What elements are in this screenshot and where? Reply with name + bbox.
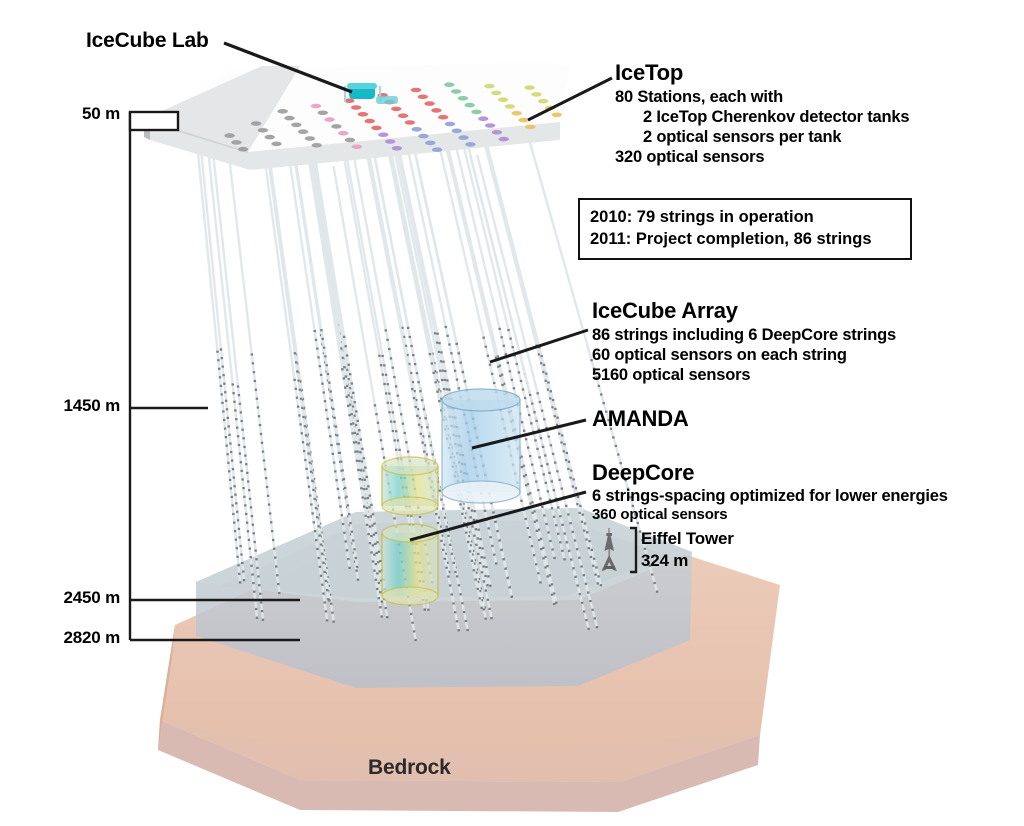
- optical-sensor-dot: [435, 513, 437, 515]
- optical-sensor-dot: [448, 343, 450, 345]
- optical-sensor-dot: [257, 406, 259, 408]
- optical-sensor-dot: [249, 498, 251, 500]
- optical-sensor-dot: [541, 410, 543, 412]
- optical-sensor-dot: [241, 429, 243, 431]
- optical-sensor-dot: [416, 415, 418, 417]
- optical-sensor-dot: [388, 393, 390, 395]
- optical-sensor-dot: [385, 392, 387, 394]
- optical-sensor-dot: [252, 524, 254, 526]
- optical-sensor-dot: [341, 469, 343, 471]
- optical-sensor-dot: [456, 620, 458, 622]
- optical-sensor-dot: [272, 539, 274, 541]
- icetop-station-marker: [478, 116, 488, 121]
- optical-sensor-dot: [427, 609, 429, 611]
- optical-sensor-dot: [231, 460, 233, 462]
- optical-sensor-dot: [321, 383, 323, 385]
- optical-sensor-dot: [307, 477, 309, 479]
- optical-sensor-dot: [314, 530, 316, 532]
- optical-sensor-dot: [471, 510, 473, 512]
- optical-sensor-dot: [239, 581, 241, 583]
- optical-sensor-dot: [235, 539, 237, 541]
- optical-sensor-dot: [572, 531, 574, 533]
- optical-sensor-dot: [376, 541, 378, 543]
- icetop-station-marker: [538, 99, 548, 104]
- optical-sensor-dot: [557, 506, 559, 508]
- optical-sensor-dot: [439, 370, 441, 372]
- optical-sensor-dot: [339, 452, 341, 454]
- optical-sensor-dot: [458, 387, 460, 389]
- optical-sensor-dot: [416, 372, 418, 374]
- optical-sensor-dot: [542, 446, 544, 448]
- optical-sensor-dot: [339, 505, 341, 507]
- optical-sensor-dot: [326, 418, 328, 420]
- optical-sensor-dot: [364, 479, 366, 481]
- optical-sensor-dot: [543, 364, 545, 366]
- optical-sensor-dot: [473, 569, 475, 571]
- optical-sensor-dot: [244, 504, 246, 506]
- optical-sensor-dot: [260, 601, 262, 603]
- icetop-station-marker: [425, 141, 435, 146]
- optical-sensor-dot: [270, 521, 272, 523]
- optical-sensor-dot: [484, 510, 486, 512]
- optical-sensor-dot: [233, 522, 235, 524]
- icecube-array-line-2: 60 optical sensors on each string: [592, 346, 847, 365]
- optical-sensor-dot: [268, 504, 270, 506]
- optical-sensor-dot: [561, 550, 563, 552]
- optical-sensor-dot: [247, 480, 249, 482]
- optical-sensor-dot: [351, 531, 353, 533]
- optical-sensor-dot: [538, 456, 540, 458]
- optical-sensor-dot: [327, 598, 329, 600]
- optical-sensor-dot: [361, 460, 363, 462]
- optical-sensor-dot: [487, 599, 489, 601]
- optical-sensor-dot: [293, 379, 295, 381]
- optical-sensor-dot: [374, 543, 376, 545]
- optical-sensor-dot: [227, 462, 229, 464]
- optical-sensor-dot: [592, 565, 594, 567]
- optical-sensor-dot: [258, 584, 260, 586]
- optical-sensor-dot: [334, 470, 336, 472]
- optical-sensor-dot: [584, 522, 586, 524]
- optical-sensor-dot: [369, 542, 371, 544]
- icetop-station-marker: [385, 139, 395, 144]
- optical-sensor-dot: [320, 575, 322, 577]
- optical-sensor-dot: [379, 591, 381, 593]
- optical-sensor-dot: [489, 536, 491, 538]
- optical-sensor-dot: [216, 351, 218, 353]
- optical-sensor-dot: [342, 523, 344, 525]
- optical-sensor-dot: [568, 550, 570, 552]
- optical-sensor-dot: [443, 388, 445, 390]
- optical-sensor-dot: [543, 418, 545, 420]
- optical-sensor-dot: [433, 372, 435, 374]
- optical-sensor-dot: [370, 551, 372, 553]
- optical-sensor-dot: [253, 371, 255, 373]
- optical-sensor-dot: [309, 462, 311, 464]
- icetop-station-marker: [345, 138, 355, 143]
- optical-sensor-dot: [485, 566, 487, 568]
- optical-sensor-dot: [316, 348, 318, 350]
- optical-sensor-dot: [568, 461, 570, 463]
- optical-sensor-dot: [243, 579, 245, 581]
- optical-sensor-dot: [304, 425, 306, 427]
- icetop-heading: IceTop: [615, 60, 683, 86]
- optical-sensor-dot: [330, 390, 332, 392]
- optical-sensor-dot: [237, 435, 239, 437]
- optical-sensor-dot: [354, 432, 356, 434]
- icetop-station-marker: [452, 129, 462, 134]
- optical-sensor-dot: [229, 442, 231, 444]
- optical-sensor-dot: [545, 380, 547, 382]
- optical-sensor-dot: [233, 485, 235, 487]
- optical-sensor-dot: [587, 628, 589, 630]
- optical-sensor-dot: [415, 406, 417, 408]
- optical-sensor-dot: [387, 383, 389, 385]
- optical-sensor-dot: [531, 403, 533, 405]
- optical-sensor-dot: [297, 380, 299, 382]
- icetop-station-marker: [465, 103, 475, 108]
- icetop-station-marker: [438, 115, 448, 120]
- optical-sensor-dot: [217, 359, 219, 361]
- deepcore-line-2: 360 optical sensors: [592, 506, 727, 523]
- optical-sensor-dot: [319, 365, 321, 367]
- optical-sensor-dot: [430, 444, 432, 446]
- optical-sensor-dot: [238, 528, 240, 530]
- icetop-station-marker: [531, 92, 541, 97]
- optical-sensor-dot: [438, 351, 440, 353]
- optical-sensor-dot: [566, 452, 568, 454]
- optical-sensor-dot: [340, 347, 342, 349]
- optical-sensor-dot: [250, 506, 252, 508]
- optical-sensor-dot: [355, 557, 357, 559]
- optical-sensor-dot: [376, 552, 378, 554]
- eiffel-name: Eiffel Tower: [641, 528, 734, 549]
- optical-sensor-dot: [322, 562, 324, 564]
- icetop-station-marker: [358, 112, 368, 117]
- optical-sensor-dot: [378, 597, 380, 599]
- optical-sensor-dot: [501, 336, 503, 338]
- optical-sensor-dot: [499, 375, 501, 377]
- optical-sensor-dot: [387, 402, 389, 404]
- optical-sensor-dot: [481, 547, 483, 549]
- optical-sensor-dot: [235, 418, 237, 420]
- optical-sensor-dot: [348, 513, 350, 515]
- optical-sensor-dot: [428, 435, 430, 437]
- optical-sensor-dot: [578, 557, 580, 559]
- optical-sensor-dot: [218, 368, 220, 370]
- optical-sensor-dot: [570, 558, 572, 560]
- optical-sensor-dot: [453, 562, 455, 564]
- optical-sensor-dot: [531, 464, 533, 466]
- optical-sensor-dot: [310, 503, 312, 505]
- depth-label-50: 50 m: [0, 104, 120, 124]
- optical-sensor-dot: [221, 393, 223, 395]
- optical-sensor-dot: [446, 379, 448, 381]
- optical-sensor-dot: [419, 390, 421, 392]
- optical-sensor-dot: [345, 345, 347, 347]
- optical-sensor-dot: [395, 430, 397, 432]
- optical-sensor-dot: [319, 534, 321, 536]
- optical-sensor-dot: [344, 387, 346, 389]
- optical-sensor-dot: [485, 590, 487, 592]
- optical-sensor-dot: [315, 539, 317, 541]
- optical-sensor-dot: [540, 437, 542, 439]
- optical-sensor-dot: [437, 522, 439, 524]
- optical-sensor-dot: [326, 589, 328, 591]
- optical-sensor-dot: [445, 567, 447, 569]
- optical-sensor-dot: [615, 445, 617, 447]
- icetop-station-marker: [278, 109, 288, 114]
- optical-sensor-dot: [553, 603, 555, 605]
- optical-sensor-dot: [357, 451, 359, 453]
- optical-sensor-dot: [348, 414, 350, 416]
- optical-sensor-dot: [471, 560, 473, 562]
- optical-sensor-dot: [237, 519, 239, 521]
- optical-sensor-dot: [264, 468, 266, 470]
- optical-sensor-dot: [301, 432, 303, 434]
- optical-sensor-dot: [397, 395, 399, 397]
- optical-sensor-dot: [559, 515, 561, 517]
- optical-sensor-dot: [320, 544, 322, 546]
- optical-sensor-dot: [330, 603, 332, 605]
- optical-sensor-dot: [367, 485, 369, 487]
- optical-sensor-dot: [238, 394, 240, 396]
- optical-sensor-dot: [322, 338, 324, 340]
- optical-sensor-dot: [302, 441, 304, 443]
- optical-sensor-dot: [371, 525, 373, 527]
- optical-sensor-dot: [242, 571, 244, 573]
- optical-sensor-dot: [600, 584, 602, 586]
- optical-sensor-dot: [232, 392, 234, 394]
- optical-sensor-dot: [494, 521, 496, 523]
- optical-sensor-dot: [456, 379, 458, 381]
- optical-sensor-dot: [488, 608, 490, 610]
- optical-sensor-dot: [450, 352, 452, 354]
- optical-sensor-dot: [440, 540, 442, 542]
- optical-sensor-dot: [587, 591, 589, 593]
- optical-sensor-dot: [378, 355, 380, 357]
- detector-string: [208, 147, 257, 618]
- icetop-station-marker: [318, 111, 328, 116]
- optical-sensor-dot: [243, 496, 245, 498]
- optical-sensor-dot: [444, 379, 446, 381]
- optical-sensor-dot: [400, 413, 402, 415]
- icecube-array-heading: IceCube Array: [592, 298, 738, 324]
- optical-sensor-dot: [444, 517, 446, 519]
- optical-sensor-dot: [349, 522, 351, 524]
- optical-sensor-dot: [617, 453, 619, 455]
- optical-sensor-dot: [296, 397, 298, 399]
- optical-sensor-dot: [409, 336, 411, 338]
- optical-sensor-dot: [370, 535, 372, 537]
- optical-sensor-dot: [303, 450, 305, 452]
- optical-sensor-dot: [551, 406, 553, 408]
- optical-sensor-dot: [522, 388, 524, 390]
- optical-sensor-dot: [361, 448, 363, 450]
- optical-sensor-dot: [448, 389, 450, 391]
- icetop-station-marker: [224, 133, 234, 138]
- optical-sensor-dot: [560, 441, 562, 443]
- optical-sensor-dot: [241, 470, 243, 472]
- optical-sensor-dot: [259, 424, 261, 426]
- icetop-station-marker: [312, 143, 322, 148]
- optical-sensor-dot: [221, 402, 223, 404]
- optical-sensor-dot: [480, 607, 482, 609]
- optical-sensor-dot: [447, 576, 449, 578]
- optical-sensor-dot: [316, 516, 318, 518]
- icetop-station-marker: [371, 126, 381, 131]
- optical-sensor-dot: [263, 459, 265, 461]
- optical-sensor-dot: [485, 346, 487, 348]
- optical-sensor-dot: [545, 373, 547, 375]
- optical-sensor-dot: [278, 592, 280, 594]
- optical-sensor-dot: [343, 478, 345, 480]
- optical-sensor-dot: [315, 339, 317, 341]
- optical-sensor-dot: [533, 472, 535, 474]
- optical-sensor-dot: [421, 442, 423, 444]
- optical-sensor-dot: [273, 548, 275, 550]
- optical-sensor-dot: [574, 539, 576, 541]
- optical-sensor-dot: [251, 573, 253, 575]
- optical-sensor-dot: [434, 332, 436, 334]
- optical-sensor-dot: [483, 608, 485, 610]
- optical-sensor-dot: [411, 388, 413, 390]
- optical-sensor-dot: [380, 364, 382, 366]
- optical-sensor-dot: [407, 327, 409, 329]
- optical-sensor-dot: [254, 550, 256, 552]
- optical-sensor-dot: [355, 410, 357, 412]
- optical-sensor-dot: [438, 342, 440, 344]
- optical-sensor-dot: [458, 584, 460, 586]
- optical-sensor-dot: [326, 619, 328, 621]
- optical-sensor-dot: [392, 430, 394, 432]
- optical-sensor-dot: [512, 346, 514, 348]
- optical-sensor-dot: [219, 376, 221, 378]
- optical-sensor-dot: [481, 556, 483, 558]
- optical-sensor-dot: [439, 490, 441, 492]
- optical-sensor-dot: [383, 457, 385, 459]
- optical-sensor-dot: [313, 521, 315, 523]
- optical-sensor-dot: [255, 558, 257, 560]
- optical-sensor-dot: [261, 610, 263, 612]
- optical-sensor-dot: [357, 579, 359, 581]
- optical-sensor-dot: [583, 574, 585, 576]
- optical-sensor-dot: [295, 361, 297, 363]
- optical-sensor-dot: [265, 477, 267, 479]
- optical-sensor-dot: [477, 529, 479, 531]
- optical-sensor-dot: [527, 447, 529, 449]
- optical-sensor-dot: [366, 476, 368, 478]
- optical-sensor-dot: [509, 586, 511, 588]
- optical-sensor-dot: [314, 330, 316, 332]
- optical-sensor-dot: [547, 381, 549, 383]
- optical-sensor-dot: [386, 616, 388, 618]
- optical-sensor-dot: [556, 417, 558, 419]
- optical-sensor-dot: [531, 545, 533, 547]
- optical-sensor-dot: [429, 353, 431, 355]
- optical-sensor-dot: [525, 438, 527, 440]
- optical-sensor-dot: [347, 558, 349, 560]
- optical-sensor-dot: [320, 329, 322, 331]
- optical-sensor-dot: [362, 496, 364, 498]
- optical-sensor-dot: [226, 453, 228, 455]
- optical-sensor-dot: [373, 554, 375, 556]
- optical-sensor-dot: [363, 457, 365, 459]
- optical-sensor-dot: [561, 488, 563, 490]
- optical-sensor-dot: [471, 525, 473, 527]
- optical-sensor-dot: [554, 408, 556, 410]
- optical-sensor-dot: [298, 414, 300, 416]
- optical-sensor-dot: [254, 380, 256, 382]
- optical-sensor-dot: [596, 626, 598, 628]
- optical-sensor-dot: [358, 442, 360, 444]
- optical-sensor-dot: [390, 402, 392, 404]
- icetop-station-marker: [485, 123, 495, 128]
- optical-sensor-dot: [379, 560, 381, 562]
- optical-sensor-dot: [299, 389, 301, 391]
- optical-sensor-dot: [585, 583, 587, 585]
- optical-sensor-dot: [305, 434, 307, 436]
- optical-sensor-dot: [582, 514, 584, 516]
- optical-sensor-dot: [240, 411, 242, 413]
- optical-sensor-dot: [656, 591, 658, 593]
- optical-sensor-dot: [484, 575, 486, 577]
- optical-sensor-dot: [367, 533, 369, 535]
- optical-sensor-dot: [348, 567, 350, 569]
- optical-sensor-dot: [248, 539, 250, 541]
- optical-sensor-dot: [232, 513, 234, 515]
- optical-sensor-dot: [295, 388, 297, 390]
- optical-sensor-dot: [559, 541, 561, 543]
- optical-sensor-dot: [348, 378, 350, 380]
- optical-sensor-dot: [537, 489, 539, 491]
- optical-sensor-dot: [489, 585, 491, 587]
- optical-sensor-dot: [355, 570, 357, 572]
- optical-sensor-dot: [320, 374, 322, 376]
- optical-sensor-dot: [359, 451, 361, 453]
- icetop-station-marker: [378, 132, 388, 137]
- optical-sensor-dot: [550, 390, 552, 392]
- optical-sensor-dot: [250, 565, 252, 567]
- optical-sensor-dot: [365, 515, 367, 517]
- optical-sensor-dot: [332, 621, 334, 623]
- optical-sensor-dot: [449, 544, 451, 546]
- optical-sensor-dot: [390, 357, 392, 359]
- optical-sensor-dot: [308, 486, 310, 488]
- optical-sensor-dot: [373, 570, 375, 572]
- optical-sensor-dot: [565, 505, 567, 507]
- optical-sensor-dot: [521, 466, 523, 468]
- optical-sensor-dot: [541, 355, 543, 357]
- optical-sensor-dot: [319, 566, 321, 568]
- optical-sensor-dot: [558, 433, 560, 435]
- icetop-station-marker: [251, 121, 261, 126]
- optical-sensor-dot: [594, 617, 596, 619]
- optical-sensor-dot: [382, 374, 384, 376]
- icetop-station-marker: [291, 123, 301, 128]
- optical-sensor-dot: [395, 385, 397, 387]
- optical-sensor-dot: [523, 430, 525, 432]
- optical-sensor-dot: [577, 496, 579, 498]
- optical-sensor-dot: [441, 379, 443, 381]
- optical-sensor-dot: [370, 515, 372, 517]
- icetop-station-marker: [418, 95, 428, 100]
- optical-sensor-dot: [372, 560, 374, 562]
- optical-sensor-dot: [277, 583, 279, 585]
- optical-sensor-dot: [322, 593, 324, 595]
- status-line-2011: 2011: Project completion, 86 strings: [590, 228, 900, 250]
- optical-sensor-dot: [521, 421, 523, 423]
